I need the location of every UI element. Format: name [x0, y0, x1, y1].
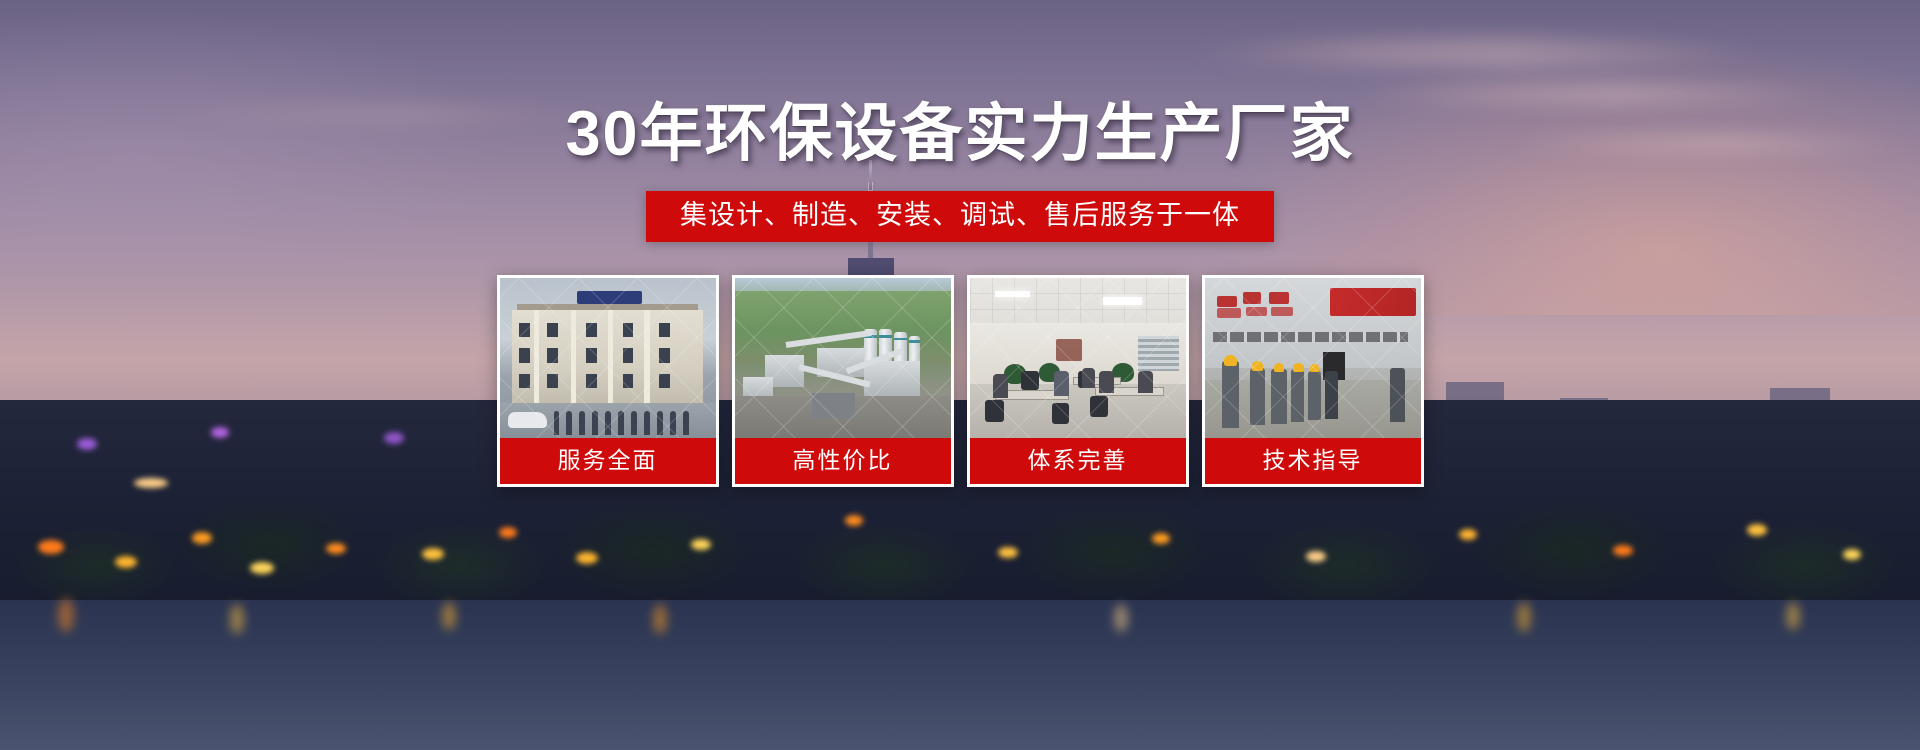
factory-banner-text — [1330, 288, 1416, 317]
hero-banner: 30年环保设备实力生产厂家 集设计、制造、安装、调试、售后服务于一体 — [0, 0, 1920, 750]
subtitle-badge: 集设计、制造、安装、调试、售后服务于一体 — [646, 191, 1274, 242]
feature-card[interactable]: 高性价比 — [732, 275, 954, 487]
feature-card[interactable]: 技术指导 — [1202, 275, 1424, 487]
feature-card-label: 体系完善 — [970, 438, 1186, 484]
wall-logo — [1056, 339, 1082, 361]
feature-cards: 服务全面 — [497, 275, 1424, 487]
factory-workers-photo — [1205, 278, 1421, 438]
parked-car — [508, 412, 547, 428]
aerial-industrial-plant-photo — [735, 278, 951, 438]
company-sign — [577, 291, 642, 304]
feature-card-label: 高性价比 — [735, 438, 951, 484]
feature-card-label: 技术指导 — [1205, 438, 1421, 484]
company-office-building-photo — [500, 278, 716, 438]
office-interior-photo — [970, 278, 1186, 438]
banner-content: 30年环保设备实力生产厂家 集设计、制造、安装、调试、售后服务于一体 — [0, 0, 1920, 750]
feature-card[interactable]: 服务全面 — [497, 275, 719, 487]
feature-card[interactable]: 体系完善 — [967, 275, 1189, 487]
feature-card-label: 服务全面 — [500, 438, 716, 484]
window-blinds — [1138, 336, 1179, 371]
page-title: 30年环保设备实力生产厂家 — [565, 103, 1354, 166]
